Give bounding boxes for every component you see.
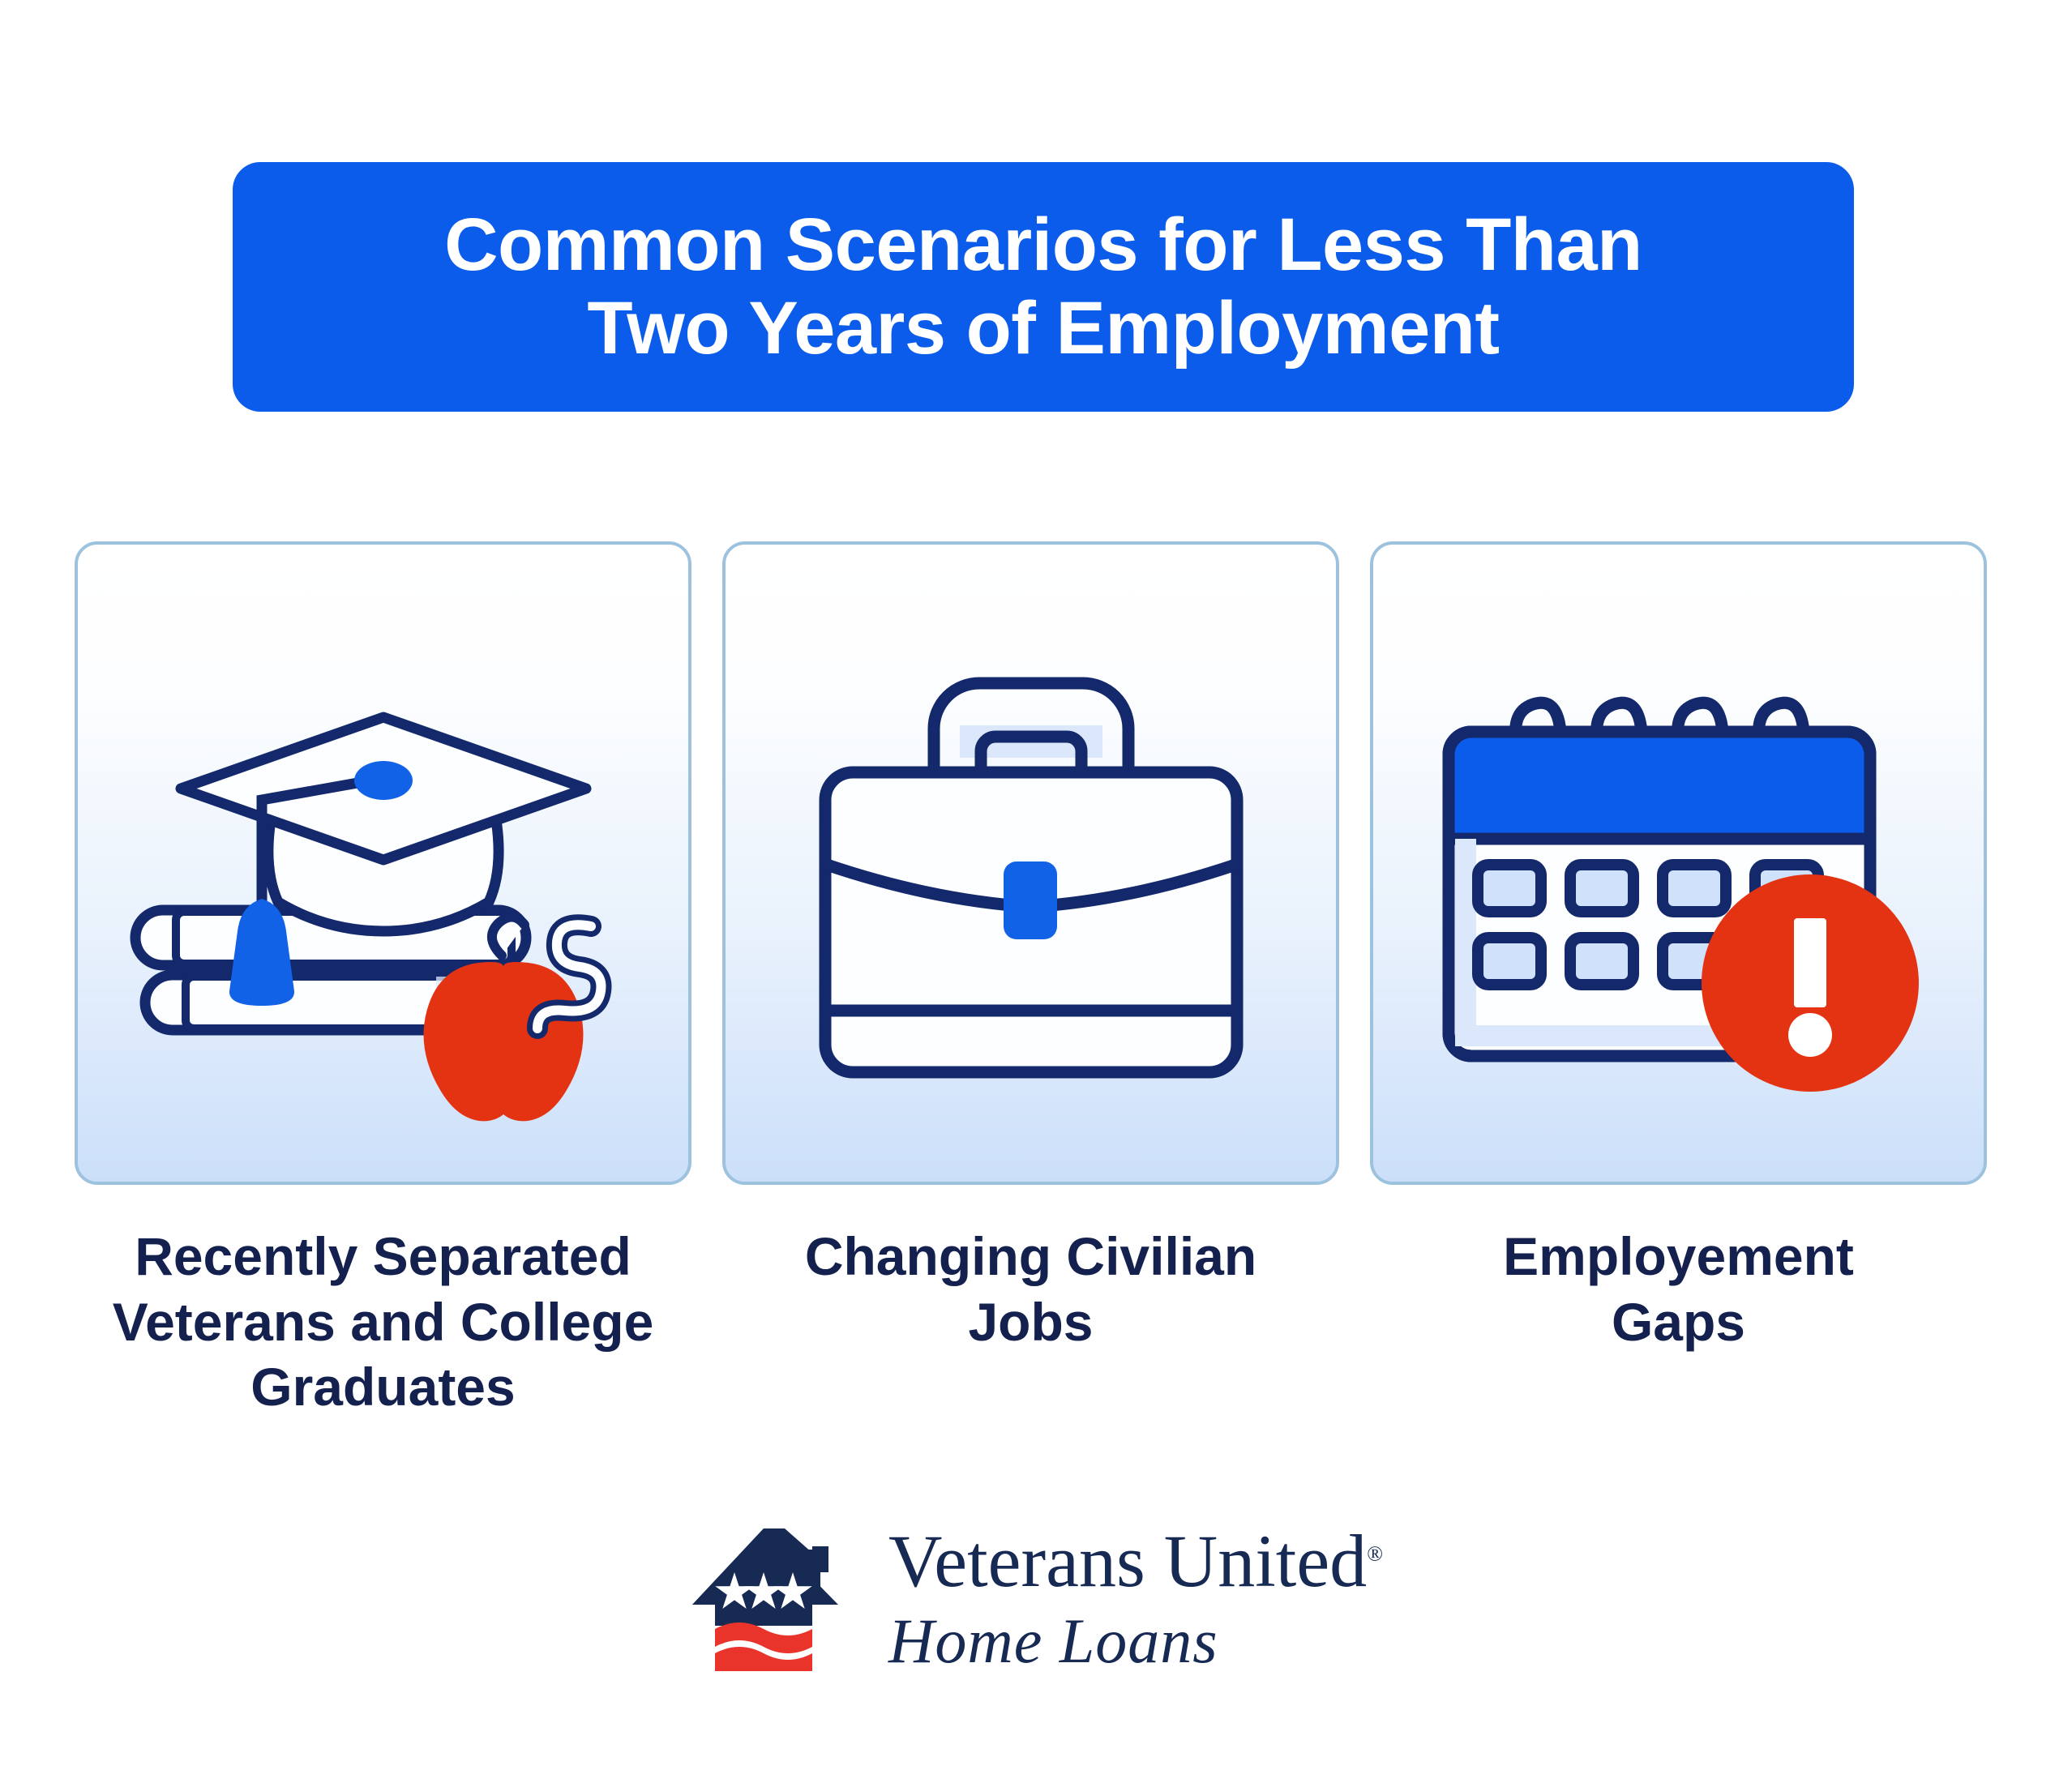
logo-text-primary: Veterans United <box>888 1520 1367 1602</box>
page-title: Common Scenarios for Less Than Two Years… <box>444 203 1642 370</box>
caption-employment-gaps: Employement Gaps <box>1370 1224 1987 1420</box>
caption-row: Recently Separated Veterans and College … <box>75 1224 1988 1420</box>
calendar-alert-icon <box>1419 604 1938 1122</box>
veterans-united-house-flag-icon <box>689 1525 867 1671</box>
scenario-card-graduates[interactable] <box>75 541 691 1185</box>
brand-logo[interactable]: Veterans United® Home Loans <box>0 1524 2072 1673</box>
title-banner: Common Scenarios for Less Than Two Years… <box>233 162 1854 412</box>
logo-wordmark: Veterans United® Home Loans <box>888 1524 1383 1673</box>
registered-trademark-icon: ® <box>1367 1541 1383 1565</box>
scenario-card-employment-gaps[interactable] <box>1370 541 1987 1185</box>
caption-changing-jobs: Changing Civilian Jobs <box>722 1224 1339 1420</box>
graduation-cap-books-apple-icon <box>116 596 651 1131</box>
scenario-card-row <box>75 541 1988 1185</box>
logo-line-home-loans: Home Loans <box>888 1610 1383 1673</box>
caption-graduates: Recently Separated Veterans and College … <box>75 1224 691 1420</box>
briefcase-icon <box>780 612 1282 1114</box>
logo-line-veterans-united: Veterans United® <box>888 1524 1383 1598</box>
scenario-card-changing-jobs[interactable] <box>722 541 1339 1185</box>
